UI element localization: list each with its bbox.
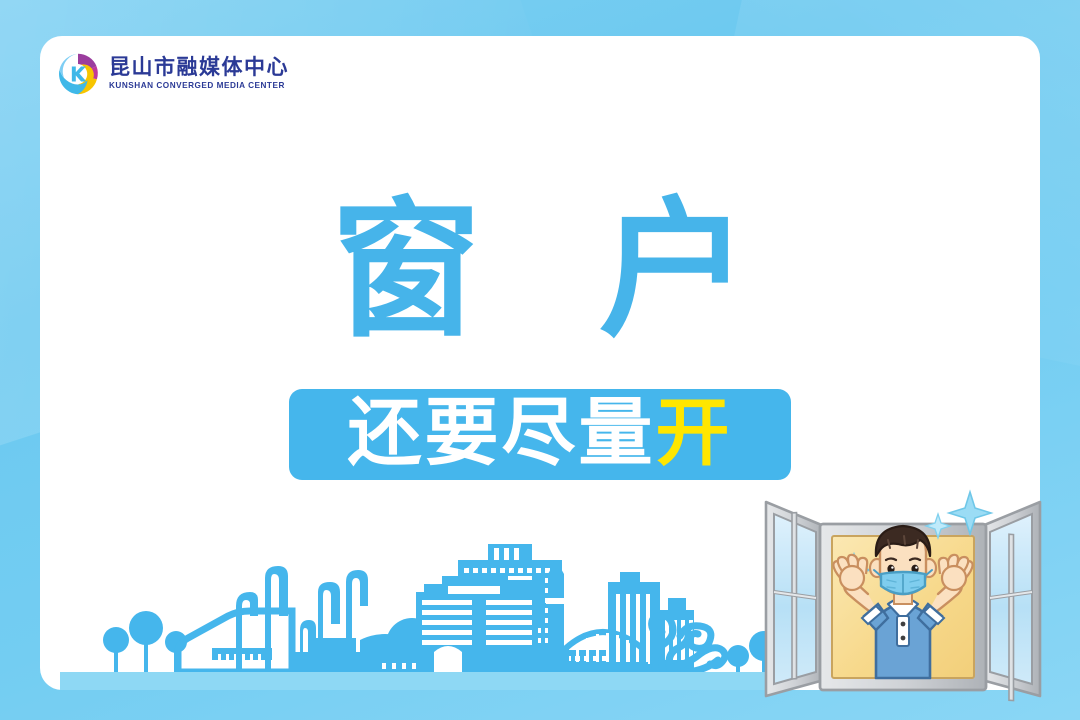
kunshan-media-logo-icon bbox=[56, 52, 100, 96]
subtitle-text-main: 还要尽量 bbox=[348, 391, 656, 474]
poster-root: 昆山市融媒体中心 KUNSHAN CONVERGED MEDIA CENTER … bbox=[0, 0, 1080, 720]
skyline-bridge bbox=[562, 632, 648, 672]
city-skyline-right-graphic bbox=[370, 540, 790, 690]
skyline-train bbox=[178, 611, 292, 672]
brand-name-cn: 昆山市融媒体中心 bbox=[109, 56, 289, 80]
subtitle-banner: 还要尽量开 bbox=[289, 389, 791, 480]
skyline-trees-left bbox=[103, 611, 187, 672]
subtitle-text-accent: 开 bbox=[656, 391, 733, 474]
brand-logo[interactable]: 昆山市融媒体中心 KUNSHAN CONVERGED MEDIA CENTER bbox=[56, 52, 289, 96]
boy-opening-window-illustration bbox=[748, 470, 1058, 702]
window-right-sash bbox=[982, 502, 1040, 701]
skyline-right-towers bbox=[416, 576, 538, 672]
window-left-sash bbox=[766, 502, 824, 696]
brand-name-en: KUNSHAN CONVERGED MEDIA CENTER bbox=[109, 81, 289, 92]
content-card: 昆山市融媒体中心 KUNSHAN CONVERGED MEDIA CENTER … bbox=[40, 36, 1040, 690]
auspicious-cloud-motif bbox=[652, 616, 725, 672]
page-title: 窗 户 bbox=[40, 186, 1040, 354]
brand-logo-text: 昆山市融媒体中心 KUNSHAN CONVERGED MEDIA CENTER bbox=[109, 56, 289, 91]
subtitle-text: 还要尽量开 bbox=[348, 396, 733, 470]
